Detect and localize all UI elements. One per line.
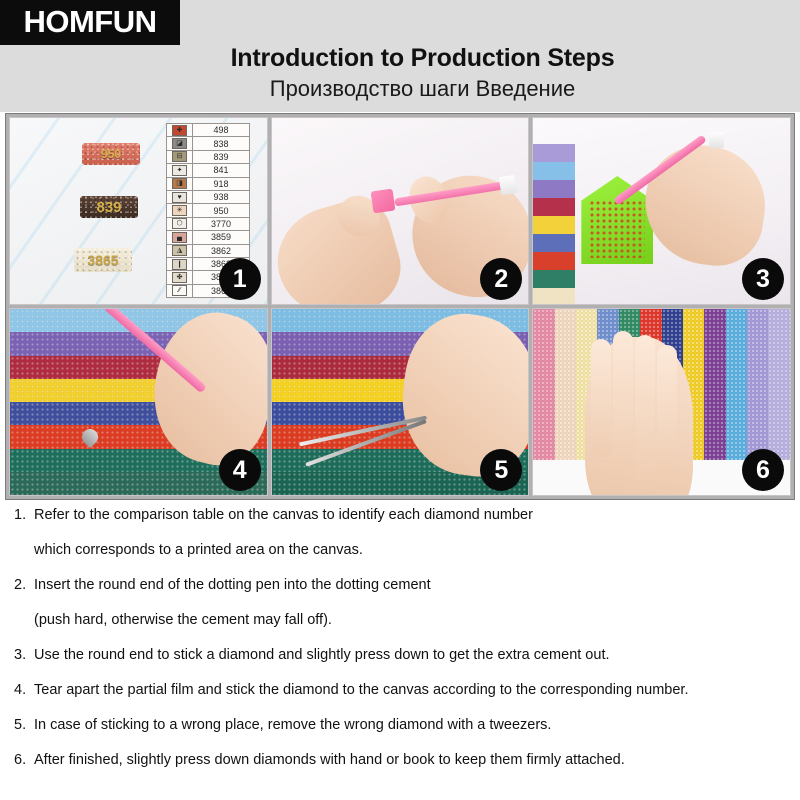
- instruction-number: 1.: [14, 508, 34, 559]
- instruction-number: 3.: [14, 648, 34, 664]
- brand-logo-text: HOMFUN: [23, 6, 156, 39]
- instruction-line: After finished, slightly press down diam…: [34, 753, 786, 769]
- step-panel-2: 2: [271, 117, 530, 305]
- dmc-number-cell: 498: [193, 124, 249, 137]
- dmc-symbol-swatch: ◮: [172, 245, 187, 256]
- canvas-stripe: [726, 309, 747, 460]
- dmc-table-row: ◪838: [166, 137, 249, 150]
- diamond-bag-label: 950: [101, 147, 121, 161]
- finger: [613, 331, 633, 471]
- dmc-symbol-cell: ◮: [166, 244, 193, 257]
- diamond-bag-label: 3865: [87, 252, 118, 268]
- dmc-table-row: ✚498: [166, 124, 249, 137]
- step-panel-4: 4: [9, 308, 268, 496]
- dmc-symbol-cell: ❙: [166, 257, 193, 270]
- instruction-number: 5.: [14, 718, 34, 734]
- dmc-number-cell: 918: [193, 177, 249, 190]
- pen-cap: [709, 132, 724, 148]
- dmc-symbol-swatch: ◪: [172, 138, 187, 149]
- dmc-symbol-swatch: ♥: [172, 192, 187, 203]
- step-panel-6: 6: [532, 308, 791, 496]
- step-badge-3: 3: [742, 258, 784, 300]
- dmc-symbol-cell: ✳: [166, 204, 193, 217]
- dmc-symbol-cell: ♥: [166, 190, 193, 203]
- instruction-item: 3.Use the round end to stick a diamond a…: [14, 648, 786, 664]
- dmc-symbol-cell: ✦: [166, 164, 193, 177]
- instruction-list: 1.Refer to the comparison table on the c…: [0, 508, 800, 788]
- instruction-text: Insert the round end of the dotting pen …: [34, 578, 786, 629]
- canvas-stripe: [704, 309, 725, 460]
- step-panel-1: 950 839 3865 ✚498◪838⊟839✦841◨918♥938✳95…: [9, 117, 268, 305]
- canvas-stripe: [533, 162, 575, 180]
- dmc-symbol-swatch: ⊟: [172, 151, 187, 162]
- dmc-symbol-swatch: ✦: [172, 165, 187, 176]
- dmc-symbol-swatch: ⬡: [172, 218, 187, 229]
- dmc-symbol-swatch: ◨: [172, 178, 187, 189]
- canvas-stripe: [533, 216, 575, 234]
- dmc-number-cell: 950: [193, 204, 249, 217]
- dmc-symbol-cell: ∕∕: [166, 284, 193, 297]
- instruction-line: Refer to the comparison table on the can…: [34, 508, 786, 524]
- dmc-table-row: ⊟839: [166, 150, 249, 163]
- dmc-number-cell: 839: [193, 150, 249, 163]
- instruction-number: 4.: [14, 683, 34, 699]
- dmc-table-row: ▄3859: [166, 231, 249, 244]
- dmc-symbol-swatch: ▄: [172, 232, 187, 243]
- dmc-table-row: ♥938: [166, 190, 249, 203]
- dmc-symbol-swatch: ∕∕: [172, 285, 187, 296]
- dotting-cement-block: [370, 189, 395, 214]
- dmc-symbol-swatch: ✳: [172, 205, 187, 216]
- page-title-russian: Производство шаги Введение: [0, 76, 800, 102]
- instruction-text: After finished, slightly press down diam…: [34, 753, 786, 769]
- dmc-symbol-cell: ▄: [166, 231, 193, 244]
- brand-logo: HOMFUN: [0, 0, 180, 45]
- dmc-table-row: ◨918: [166, 177, 249, 190]
- dmc-number-cell: 938: [193, 190, 249, 203]
- dmc-table-row: ◮3862: [166, 244, 249, 257]
- diamond-bag-3865: 3865: [74, 248, 132, 272]
- dmc-symbol-swatch: ❙: [172, 259, 187, 270]
- dmc-number-cell: 3862: [193, 244, 249, 257]
- dmc-table-row: ✦841: [166, 164, 249, 177]
- instruction-number: 6.: [14, 753, 34, 769]
- instruction-text: Use the round end to stick a diamond and…: [34, 648, 786, 664]
- steps-image-grid: 950 839 3865 ✚498◪838⊟839✦841◨918♥938✳95…: [5, 113, 795, 500]
- canvas-stripe: [555, 309, 576, 460]
- dmc-symbol-cell: ✚: [166, 124, 193, 137]
- canvas-stripe: [747, 309, 768, 460]
- canvas-stripe: [533, 252, 575, 270]
- finger: [635, 335, 655, 481]
- diamond-bag-950: 950: [82, 143, 140, 165]
- step-badge-4: 4: [219, 449, 261, 491]
- instruction-line: Insert the round end of the dotting pen …: [34, 578, 786, 594]
- canvas-stripe: [533, 144, 575, 162]
- dmc-number-cell: 3770: [193, 217, 249, 230]
- canvas-stripe: [533, 309, 554, 460]
- canvas-stripe: [533, 180, 575, 198]
- instruction-item: 2.Insert the round end of the dotting pe…: [14, 578, 786, 629]
- pen-cap: [498, 175, 517, 195]
- instruction-text: In case of sticking to a wrong place, re…: [34, 718, 786, 734]
- instruction-line: Tear apart the partial film and stick th…: [34, 683, 786, 699]
- canvas-stripe: [533, 288, 575, 305]
- canvas-strip: [533, 144, 575, 299]
- canvas-stripe: [533, 234, 575, 252]
- diamond-bag-839: 839: [80, 196, 138, 218]
- step-badge-1: 1: [219, 258, 261, 300]
- dmc-number-cell: 3859: [193, 231, 249, 244]
- instruction-item: 5.In case of sticking to a wrong place, …: [14, 718, 786, 734]
- instruction-number: 2.: [14, 578, 34, 629]
- step-panel-3: 3: [532, 117, 791, 305]
- dmc-symbol-cell: ✤: [166, 271, 193, 284]
- dmc-symbol-cell: ◪: [166, 137, 193, 150]
- step-panel-5: 5: [271, 308, 530, 496]
- instruction-line: which corresponds to a printed area on t…: [34, 543, 786, 559]
- canvas-stripe: [533, 198, 575, 216]
- diamond-bag-label: 839: [96, 199, 121, 216]
- finger: [591, 339, 611, 457]
- dmc-table-row: ✳950: [166, 204, 249, 217]
- instruction-text: Refer to the comparison table on the can…: [34, 508, 786, 559]
- instruction-item: 6.After finished, slightly press down di…: [14, 753, 786, 769]
- instruction-line: In case of sticking to a wrong place, re…: [34, 718, 786, 734]
- dmc-symbol-swatch: ✚: [172, 125, 187, 136]
- instruction-line: Use the round end to stick a diamond and…: [34, 648, 786, 664]
- dmc-table-row: ⬡3770: [166, 217, 249, 230]
- canvas-stripe: [533, 270, 575, 288]
- page-header: HOMFUN Introduction to Production Steps …: [0, 0, 800, 112]
- page-title-english: Introduction to Production Steps: [0, 44, 800, 73]
- dmc-symbol-swatch: ✤: [172, 272, 187, 283]
- dmc-number-cell: 838: [193, 137, 249, 150]
- finger: [657, 345, 677, 477]
- dmc-symbol-cell: ⬡: [166, 217, 193, 230]
- canvas-stripe: [768, 309, 789, 460]
- instruction-item: 1.Refer to the comparison table on the c…: [14, 508, 786, 559]
- dmc-symbol-cell: ⊟: [166, 150, 193, 163]
- step-badge-6: 6: [742, 449, 784, 491]
- instruction-text: Tear apart the partial film and stick th…: [34, 683, 786, 699]
- dmc-number-cell: 841: [193, 164, 249, 177]
- dmc-symbol-cell: ◨: [166, 177, 193, 190]
- instruction-line: (push hard, otherwise the cement may fal…: [34, 613, 786, 629]
- instruction-item: 4.Tear apart the partial film and stick …: [14, 683, 786, 699]
